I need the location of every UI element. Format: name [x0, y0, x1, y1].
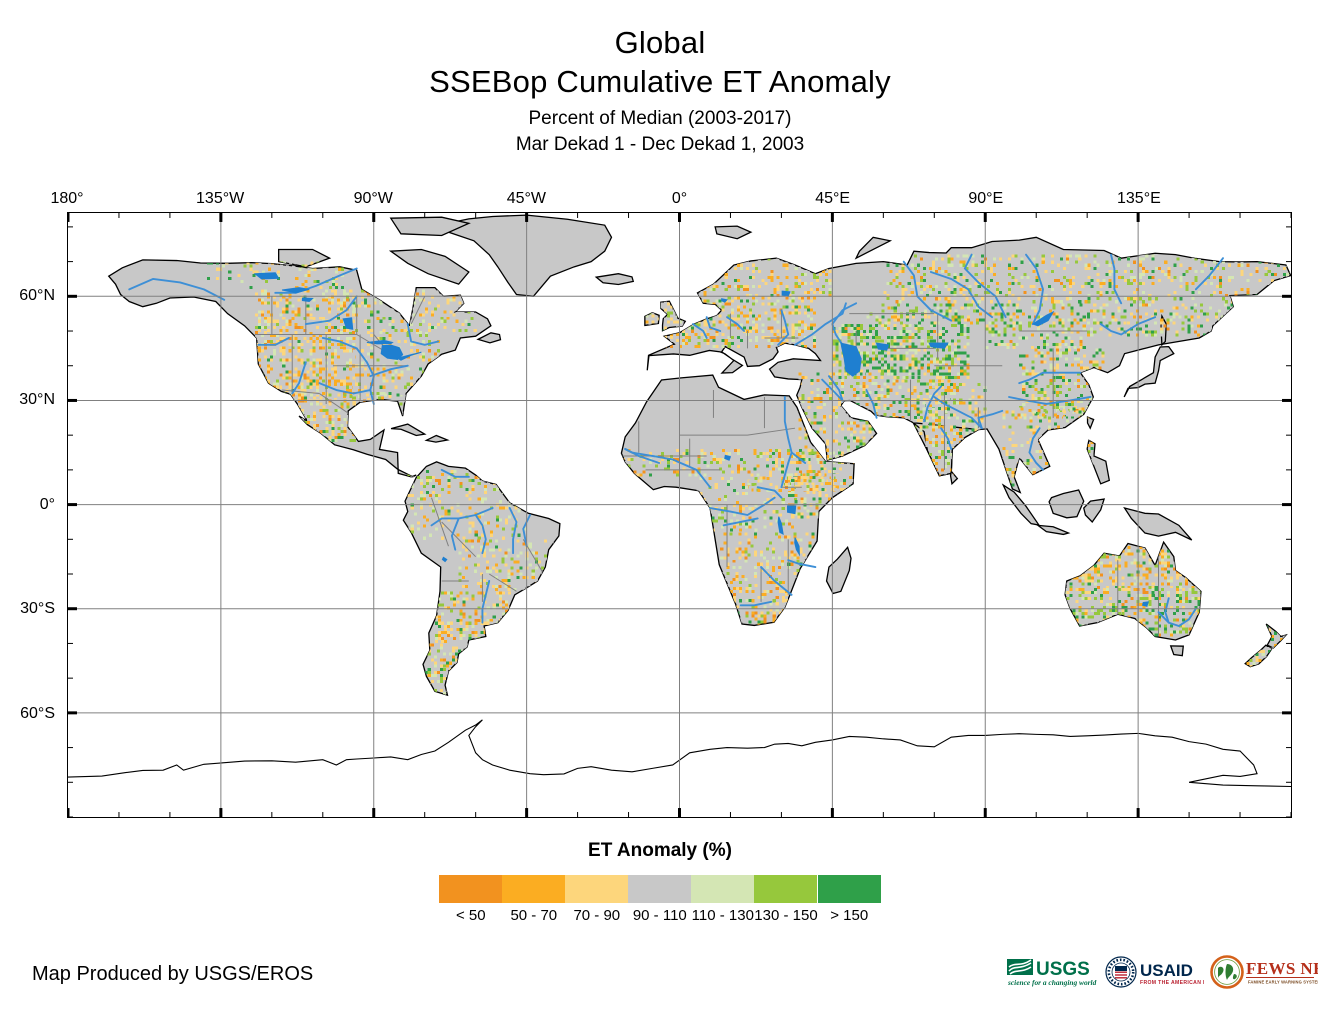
usgs-wave-mark — [1007, 959, 1033, 975]
legend-swatch-3 — [628, 875, 691, 903]
usaid-logo-tagline: FROM THE AMERICAN PEOPLE — [1140, 980, 1204, 986]
lake-ladoga — [782, 291, 790, 296]
lon-label-6: 90°E — [968, 190, 1003, 208]
lat-label-3: 30°S — [0, 600, 55, 618]
legend-swatch-0 — [439, 875, 502, 903]
lon-label-0: 180° — [50, 190, 83, 208]
legend-label-5: 130 - 150 — [754, 907, 817, 924]
fewsnet-logo-text: FEWS NET — [1246, 959, 1318, 978]
logo-row: USGS science for a changing world USAID … — [1006, 954, 1318, 990]
legend-swatch-5 — [754, 875, 817, 903]
lon-label-5: 45°E — [815, 190, 850, 208]
lat-label-2: 0° — [0, 496, 55, 514]
lon-label-3: 45°W — [507, 190, 546, 208]
fewsnet-globe-icon — [1212, 957, 1243, 988]
legend: ET Anomaly (%) < 5050 - 7070 - 9090 - 11… — [0, 840, 1320, 924]
lon-label-1: 135°W — [196, 190, 244, 208]
legend-label-6: > 150 — [830, 907, 868, 924]
fewsnet-logo[interactable]: FEWS NET FAMINE EARLY WARNING SYSTEMS NE… — [1210, 954, 1318, 990]
fewsnet-logo-tagline: FAMINE EARLY WARNING SYSTEMS NETWORK — [1248, 980, 1318, 985]
legend-swatches: < 5050 - 7070 - 9090 - 110110 - 130130 -… — [0, 875, 1320, 924]
legend-label-1: 50 - 70 — [510, 907, 557, 924]
usaid-logo-text: USAID — [1140, 961, 1193, 980]
legend-bin-5: 130 - 150 — [754, 875, 817, 924]
legend-swatch-1 — [502, 875, 565, 903]
map-frame[interactable] — [67, 212, 1292, 818]
usaid-logo[interactable]: USAID FROM THE AMERICAN PEOPLE — [1104, 954, 1204, 990]
page-subtitle: SSEBop Cumulative ET Anomaly — [0, 62, 1320, 102]
title-block: Global SSEBop Cumulative ET Anomaly Perc… — [0, 24, 1320, 158]
legend-bin-6: > 150 — [818, 875, 881, 924]
usgs-logo[interactable]: USGS science for a changing world — [1006, 955, 1098, 989]
lat-label-1: 30°N — [0, 391, 55, 409]
lake-victoria — [788, 506, 796, 514]
lon-label-4: 0° — [672, 190, 687, 208]
legend-swatch-6 — [818, 875, 881, 903]
page-note-period: Percent of Median (2003-2017) — [0, 106, 1320, 132]
legend-bin-4: 110 - 130 — [691, 875, 754, 924]
lat-label-0: 60°N — [0, 287, 55, 305]
legend-label-3: 90 - 110 — [633, 907, 687, 924]
legend-title: ET Anomaly (%) — [0, 840, 1320, 862]
world-map[interactable] — [68, 213, 1291, 817]
legend-swatch-2 — [565, 875, 628, 903]
lat-label-4: 60°S — [0, 705, 55, 723]
usgs-logo-tagline: science for a changing world — [1007, 978, 1097, 987]
lake-eyre — [1143, 602, 1149, 606]
legend-bin-1: 50 - 70 — [502, 875, 565, 924]
legend-label-2: 70 - 90 — [573, 907, 620, 924]
legend-label-0: < 50 — [456, 907, 486, 924]
legend-bin-3: 90 - 110 — [628, 875, 691, 924]
page-title: Global — [0, 24, 1320, 62]
usaid-seal-icon — [1106, 957, 1136, 987]
legend-bin-2: 70 - 90 — [565, 875, 628, 924]
lon-label-2: 90°W — [354, 190, 393, 208]
lake-aral — [877, 343, 889, 350]
map-credit: Map Produced by USGS/EROS — [32, 963, 313, 986]
legend-swatch-4 — [691, 875, 754, 903]
usgs-logo-text: USGS — [1036, 959, 1090, 980]
page-note-dekad: Mar Dekad 1 - Dec Dekad 1, 2003 — [0, 132, 1320, 158]
legend-label-4: 110 - 130 — [692, 907, 754, 924]
lon-label-7: 135°E — [1117, 190, 1161, 208]
legend-bin-0: < 50 — [439, 875, 502, 924]
